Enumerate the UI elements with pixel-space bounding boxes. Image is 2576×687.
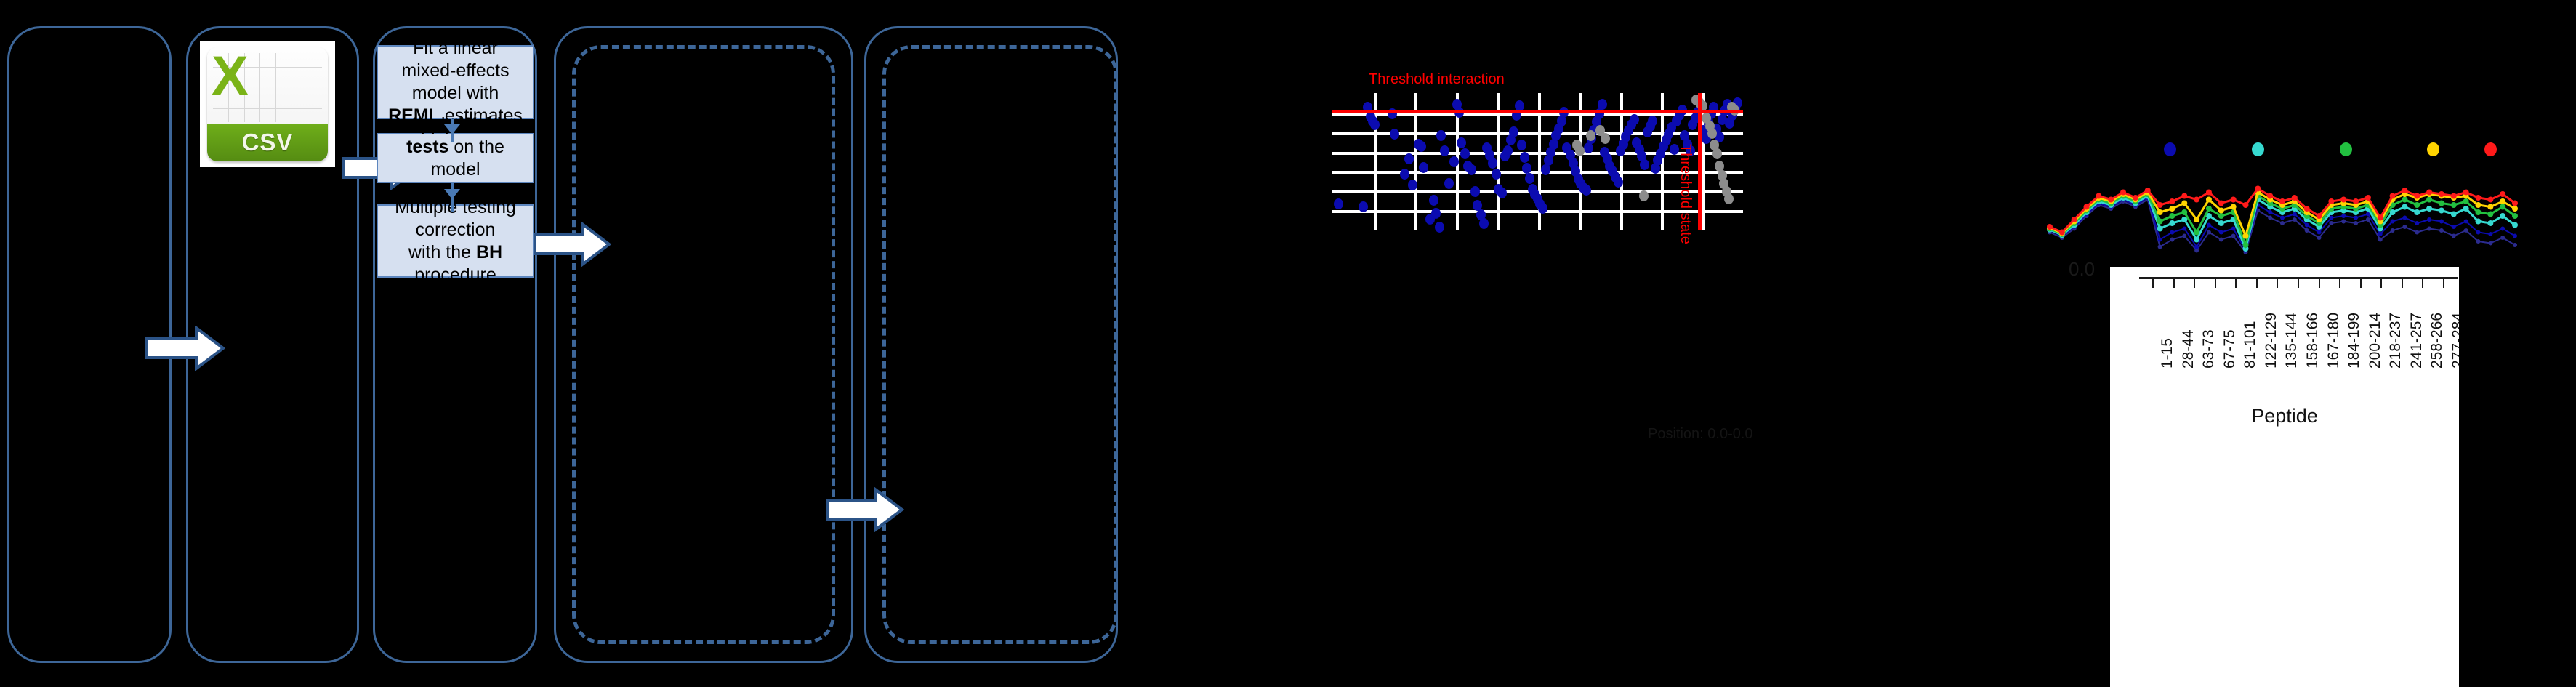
scatter-point (1431, 208, 1441, 219)
peptide-tick (2319, 279, 2320, 288)
figure-canvas: X CSV Fit a linear mixed-effects model w… (0, 0, 2576, 687)
scatter-point (1417, 141, 1426, 152)
peptide-tick-label: 241-257 (2408, 313, 2426, 369)
scatter-point (1582, 185, 1591, 196)
peptide-tick (2152, 279, 2154, 288)
flow-step-correction: Multiple testing correctionwith the BH p… (377, 204, 534, 278)
peptide-tick-label: 218-237 (2387, 313, 2404, 369)
peptide-tick (2339, 279, 2340, 288)
scatter-point (1457, 137, 1466, 148)
threshold-state-label: Threshold state (1677, 144, 1694, 244)
flow-connector-2-arrowhead (444, 189, 460, 199)
peptide-tick-label: 122-129 (2263, 313, 2280, 369)
scatter-point (1640, 159, 1649, 170)
peptide-tick-label: 277-284 (2450, 313, 2459, 369)
peptide-tick (2256, 279, 2258, 288)
scatter-point (1470, 186, 1480, 197)
peptide-tick (2215, 279, 2216, 288)
peptide-tick (2277, 279, 2278, 288)
peptide-legend-dot (2340, 142, 2352, 156)
dashed-frame-peptide (882, 45, 1118, 644)
peptide-legend-dot (2484, 142, 2497, 156)
scatter-point (1444, 178, 1454, 189)
scatter-point (1614, 177, 1623, 188)
flow-step-3-emph: BH (476, 242, 502, 262)
peptide-card-divider (2110, 676, 2459, 678)
scatter-point (1509, 126, 1518, 137)
scatter-point (1436, 130, 1446, 141)
flow-step-3-text-a: Multiple testing correction (395, 197, 516, 240)
peptide-tick-label: 200-214 (2367, 313, 2384, 369)
peptide-tick-label: 1-15 (2159, 338, 2176, 369)
scatter-point (1460, 148, 1470, 159)
peptide-legend-dot (2252, 142, 2264, 156)
peptide-line-chart (2028, 153, 2537, 258)
peptide-axis-and-structure-card: 1-1528-4463-7367-7581-101122-129135-1441… (2110, 267, 2459, 687)
peptide-tick (2298, 279, 2299, 288)
peptide-tick (2194, 279, 2195, 288)
peptide-axis-caption: Peptide (2110, 405, 2459, 427)
threshold-interaction-label: Threshold interaction (1369, 71, 1505, 88)
scatter-point (1598, 99, 1607, 110)
scatter-point (1400, 169, 1409, 180)
peptide-tick-label: 28-44 (2180, 329, 2197, 369)
arrow-volcano-to-peptide-icon (826, 487, 904, 532)
peptide-tick (2173, 279, 2175, 288)
dashed-frame-volcano (572, 45, 835, 644)
scatter-point (1449, 156, 1459, 167)
flow-step-3-text-b: with the (408, 242, 476, 262)
flow-step-1-text-a: Fit a linear mixed-effects model with (401, 38, 509, 103)
csv-band: CSV (207, 124, 328, 161)
scatter-point (1497, 188, 1507, 198)
scatter-point (1370, 119, 1380, 130)
peptide-tick-label: 184-199 (2346, 313, 2363, 369)
peptide-tick-label: 67-75 (2221, 329, 2239, 369)
scatter-point (1429, 195, 1438, 206)
peptide-legend-dot (2427, 142, 2439, 156)
peptide-tick (2235, 279, 2237, 288)
scatter-point (1707, 128, 1717, 139)
scatter-point (1538, 203, 1547, 214)
scatter-point (1440, 145, 1449, 156)
flow-step-3-text-c: procedure (414, 265, 496, 285)
peptide-tick (2360, 279, 2362, 288)
scatter-point (1479, 218, 1489, 229)
peptide-series-svg (2028, 153, 2537, 258)
scatter-point (1525, 173, 1534, 184)
peptide-legend-dot (2164, 142, 2176, 156)
peptide-tick-label: 63-73 (2200, 329, 2218, 369)
flow-step-wald: Apply Wald tests on the model parameters (377, 133, 534, 183)
scatter-point (1724, 193, 1734, 204)
scatter-point (1630, 114, 1639, 125)
threshold-interaction-line (1332, 110, 1743, 113)
scatter-point (1419, 162, 1428, 173)
scatter-point (1334, 198, 1343, 209)
csv-file-icon: X CSV (200, 41, 335, 167)
flow-connector-1-arrowhead (444, 124, 460, 134)
scatter-point (1639, 190, 1649, 201)
scatter-point (1648, 116, 1657, 126)
scatter-point (1404, 153, 1414, 164)
scatter-point (1586, 130, 1595, 141)
scatter-point (1541, 164, 1550, 175)
y-axis-zero-tick: 0.0 (2069, 258, 2095, 281)
position-annotation: Position: 0.0-0.0 (1648, 426, 1753, 443)
arrow-stats-to-volcano-icon (533, 222, 611, 267)
csv-badge: X CSV (207, 47, 328, 161)
peptide-tick-label: 167-180 (2325, 313, 2343, 369)
scatter-point (1517, 140, 1526, 150)
peptide-tick-label: 135-144 (2283, 313, 2301, 369)
arrow-into-panel-1-icon (145, 326, 225, 371)
peptide-tick (2402, 279, 2403, 288)
peptide-tick (2422, 279, 2423, 288)
scatter-point (1492, 169, 1501, 180)
peptide-tick (2443, 279, 2444, 288)
flow-step-fit-model: Fit a linear mixed-effects model with RE… (377, 45, 534, 119)
peptide-tick (2380, 279, 2382, 288)
scatter-point (1520, 152, 1529, 163)
peptide-tick-label: 158-166 (2304, 313, 2322, 369)
peptide-tick-label: 81-101 (2242, 321, 2259, 369)
peptide-tick-label: 258-266 (2428, 313, 2446, 369)
scatter-point (1575, 145, 1585, 156)
excel-x-glyph: X (212, 49, 249, 104)
csv-label: CSV (242, 129, 294, 156)
scatter-point (1435, 222, 1444, 233)
scatter-point (1503, 145, 1513, 156)
scatter-point (1390, 129, 1399, 140)
scatter-point (1601, 133, 1610, 144)
scatter-point (1712, 148, 1722, 159)
threshold-state-line (1698, 93, 1702, 230)
